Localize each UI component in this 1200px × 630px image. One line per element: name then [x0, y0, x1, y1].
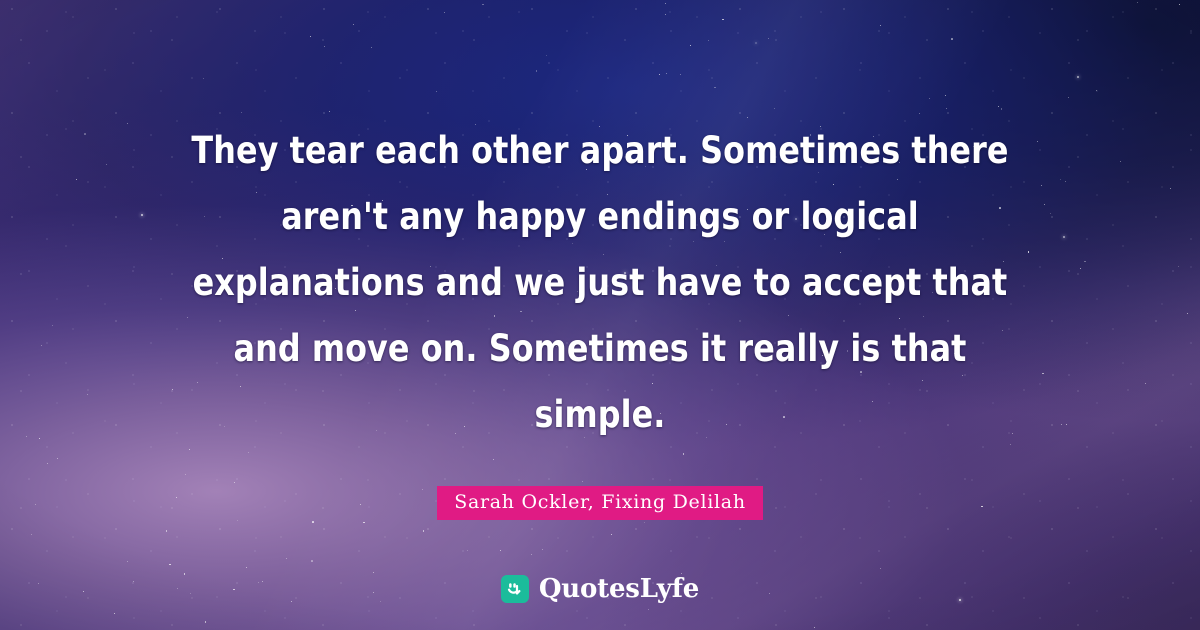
card-content: They tear each other apart. Sometimes th… — [0, 0, 1200, 630]
quote-text: They tear each other apart. Sometimes th… — [170, 118, 1030, 448]
brand-wordmark: QuotesLyfe — [539, 575, 699, 603]
attribution-badge: Sarah Ockler, Fixing Delilah — [437, 486, 763, 520]
quote-card: They tear each other apart. Sometimes th… — [0, 0, 1200, 630]
brand-logo: QuotesLyfe — [501, 575, 699, 603]
quote-mark-icon — [501, 575, 529, 603]
attribution-label: Sarah Ockler, Fixing Delilah — [454, 491, 746, 513]
